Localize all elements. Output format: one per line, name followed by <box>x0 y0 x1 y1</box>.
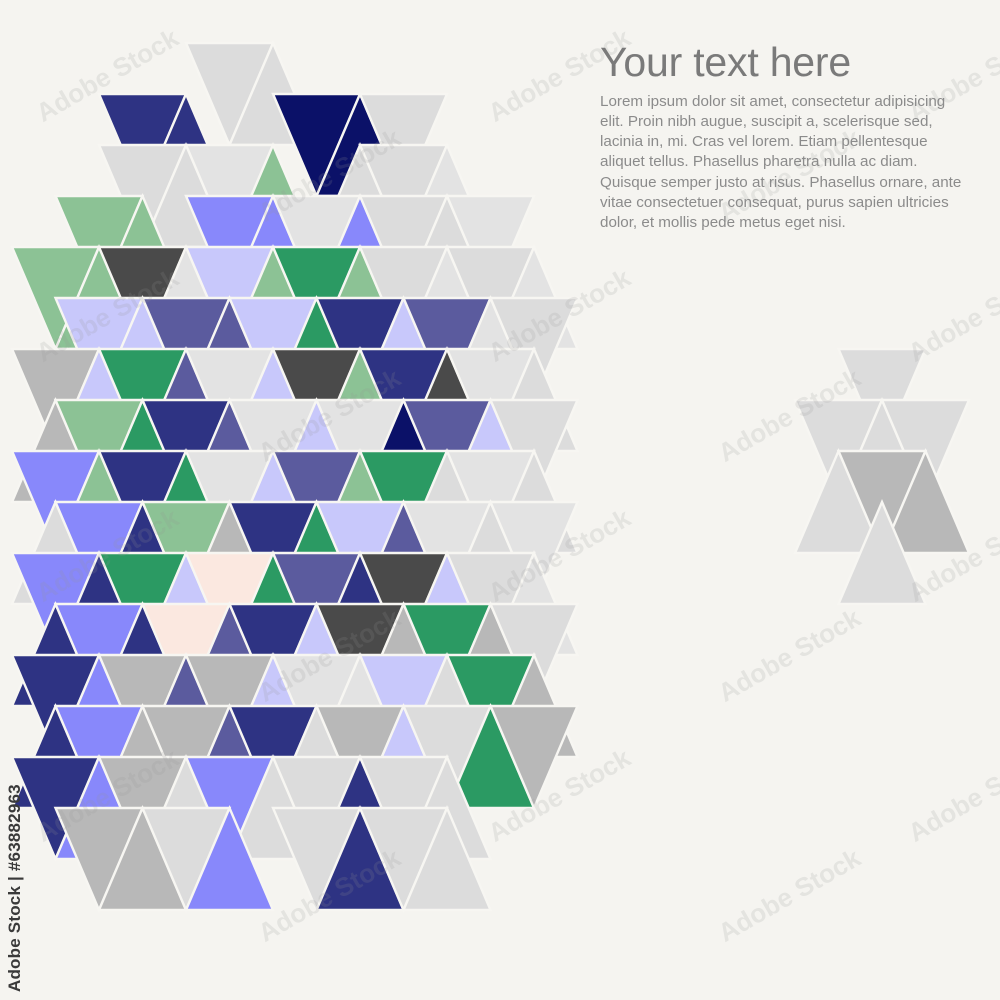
page-title: Your text here <box>600 40 972 84</box>
artwork-canvas: Adobe StockAdobe StockAdobe StockAdobe S… <box>0 0 1000 1000</box>
mosaic-detached-cluster <box>795 349 969 604</box>
mosaic-main-cluster <box>12 43 578 910</box>
text-block: Your text here Lorem ipsum dolor sit ame… <box>600 40 972 233</box>
body-paragraph: Lorem ipsum dolor sit amet, consectetur … <box>600 92 972 232</box>
